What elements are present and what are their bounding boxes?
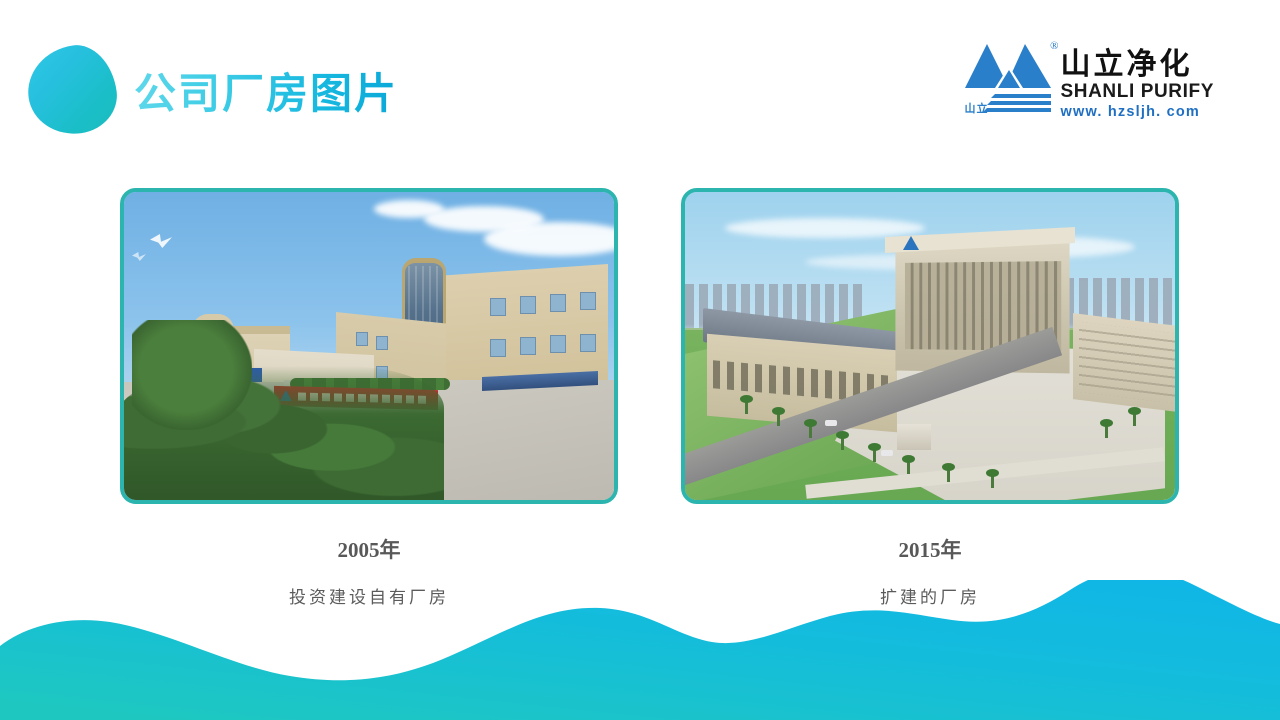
caption-year: 2005年 [120,540,618,561]
photo-card-2015 [681,188,1179,504]
bottom-wave-decoration [0,580,1280,720]
company-logo: ® 山立 山立净化 SHANLI PURIFY www. hzsljh. com [965,36,1214,121]
logo-mark-sublabel: 山立 [965,100,989,116]
slide-canvas: 公司厂房图片 ® 山立 山立净化 SHANLI PURIFY www. hzsl… [0,0,1280,720]
logo-website: www. hzsljh. com [1061,104,1214,121]
photo-card-2005 [120,188,618,504]
factory-photo-2005 [124,192,614,500]
caption-year: 2015年 [681,540,1179,561]
logo-company-en: SHANLI PURIFY [1061,81,1214,103]
page-title: 公司厂房图片 [134,60,398,121]
logo-wordmark: 山立净化 SHANLI PURIFY www. hzsljh. com [1061,36,1214,121]
registered-trademark-icon: ® [1050,40,1058,52]
photo-frame [120,188,618,504]
shanli-mountain-mark-icon: ® 山立 [965,36,1053,118]
factory-photo-2015 [685,192,1175,500]
photo-frame [681,188,1179,504]
decorative-blob [22,40,121,139]
logo-company-cn: 山立净化 [1061,50,1214,80]
